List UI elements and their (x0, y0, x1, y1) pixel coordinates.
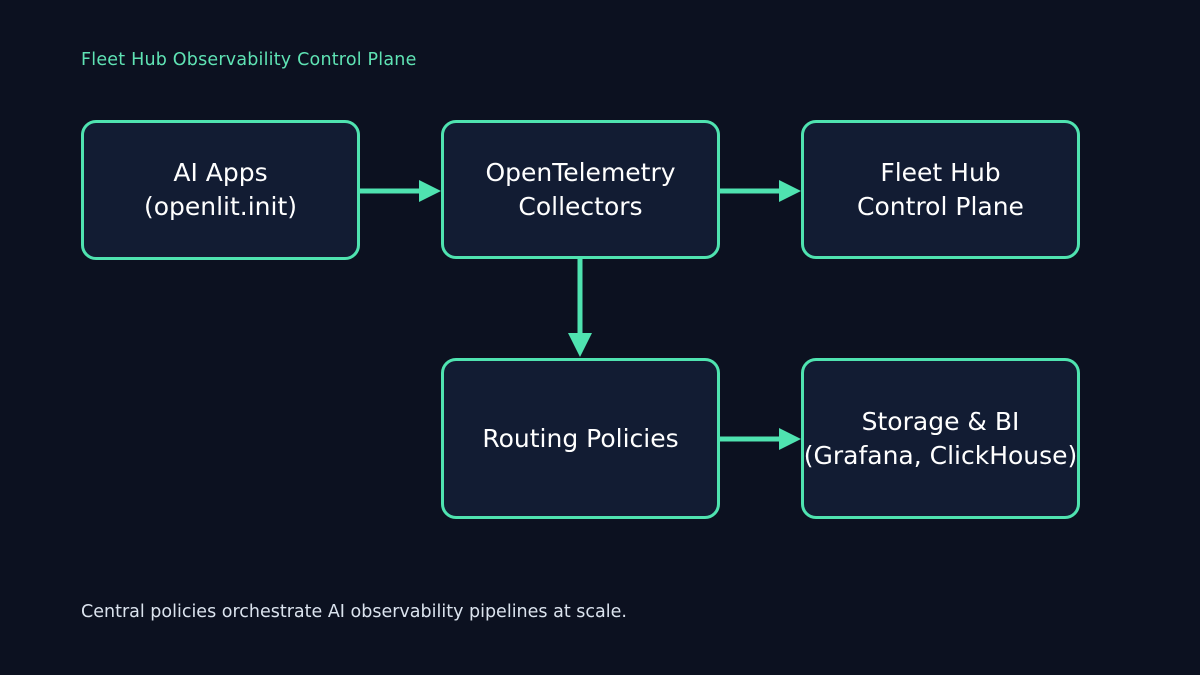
node-fleet-hub-line1: Fleet Hub (880, 158, 1000, 187)
node-routing-policies[interactable]: Routing Policies (441, 358, 720, 519)
diagram-caption: Central policies orchestrate AI observab… (81, 602, 627, 622)
node-fleet-hub-control-plane-label: Fleet Hub Control Plane (857, 156, 1024, 224)
node-routing-policies-label: Routing Policies (482, 422, 678, 456)
node-storage-line2: (Grafana, ClickHouse) (804, 439, 1078, 473)
diagram-canvas: Fleet Hub Observability Control Plane AI… (0, 0, 1200, 675)
node-storage-line1: Storage & BI (804, 405, 1078, 439)
node-ai-apps[interactable]: AI Apps (openlit.init) (81, 120, 360, 260)
edge-routing-to-storage (720, 428, 801, 450)
node-storage-and-bi-label: Storage & BI (Grafana, ClickHouse) (804, 405, 1078, 473)
node-ai-apps-line2: (openlit.init) (144, 192, 297, 221)
edge-otel-to-routing (568, 259, 592, 357)
edge-otel-to-fleet-hub (720, 180, 801, 202)
node-ai-apps-label: AI Apps (openlit.init) (144, 156, 297, 224)
node-fleet-hub-control-plane[interactable]: Fleet Hub Control Plane (801, 120, 1080, 259)
node-otel-line2: Collectors (518, 192, 642, 221)
node-fleet-hub-line2: Control Plane (857, 192, 1024, 221)
node-ai-apps-line1: AI Apps (173, 158, 267, 187)
edge-layer (0, 0, 1200, 675)
edge-ai-apps-to-otel (360, 180, 441, 202)
node-opentelemetry-collectors[interactable]: OpenTelemetry Collectors (441, 120, 720, 259)
node-otel-line1: OpenTelemetry (485, 158, 675, 187)
node-routing-line1: Routing Policies (482, 424, 678, 453)
page-title: Fleet Hub Observability Control Plane (81, 50, 417, 70)
node-storage-and-bi[interactable]: Storage & BI (Grafana, ClickHouse) (801, 358, 1080, 519)
node-opentelemetry-collectors-label: OpenTelemetry Collectors (485, 156, 675, 224)
